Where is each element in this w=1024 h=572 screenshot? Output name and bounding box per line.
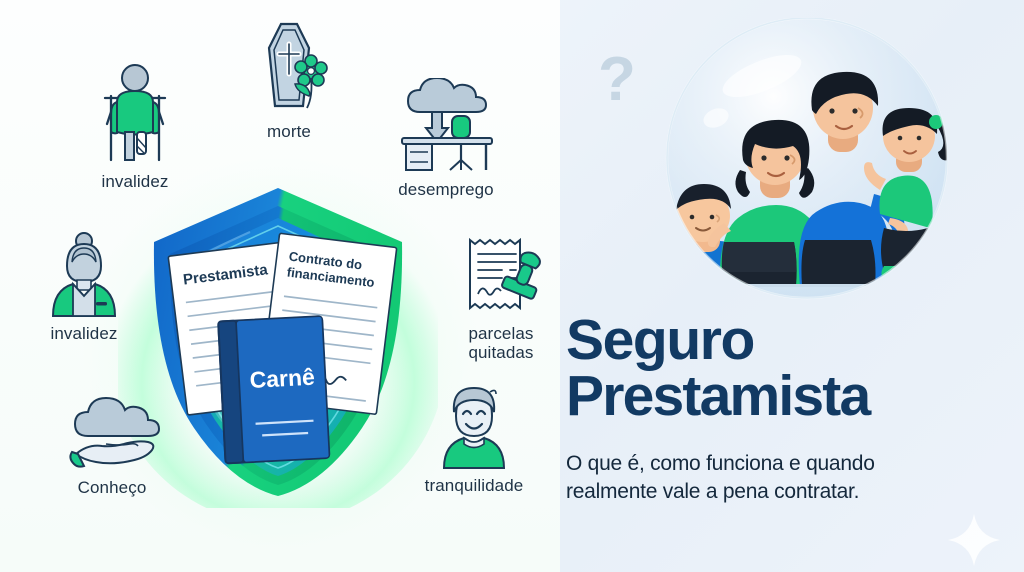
icon-invalidez-woman: invalidez	[26, 232, 142, 343]
page-title: Seguro Prestamista	[566, 312, 1006, 425]
icon-morte-coffin-label: morte	[267, 122, 311, 141]
icon-parcelas-receipt-label: parcelas quitadas	[468, 324, 533, 362]
icon-conheco-hand: Conheço	[52, 392, 172, 497]
receipt-stamp-icon	[454, 234, 548, 318]
infographic-canvas: ?	[0, 0, 1024, 572]
icon-invalidez-woman-label: invalidez	[50, 324, 117, 343]
woman-bun-icon	[39, 232, 129, 318]
icon-invalidez-crutches-label: invalidez	[101, 172, 168, 191]
page-title-line1: Seguro	[566, 308, 754, 372]
page-subtitle: O que é, como funciona e quando realment…	[566, 450, 986, 506]
document-carne-label: Carnê	[249, 364, 315, 393]
icon-tranquilidade-boy: tranquilidade	[404, 384, 544, 495]
icon-morte-coffin: morte	[234, 18, 344, 141]
cloud-desk-icon	[392, 78, 500, 174]
cloud-shape	[75, 398, 159, 436]
cloud-hand-icon	[62, 392, 162, 472]
smiling-boy-icon	[430, 384, 518, 470]
person-crutches-icon	[89, 62, 181, 166]
icon-tranquilidade-boy-label: tranquilidade	[425, 476, 524, 495]
icon-invalidez-crutches: invalidez	[70, 62, 200, 191]
coffin-flower-icon	[247, 18, 331, 116]
icon-desemprego-desk: desemprego	[382, 78, 510, 199]
page-title-line2: Prestamista	[566, 368, 1006, 424]
page-subtitle-line2: realmente vale a pena contratar.	[566, 480, 859, 503]
document-carne: Carnê	[218, 316, 329, 463]
icon-conheco-hand-label: Conheço	[78, 478, 147, 497]
page-subtitle-line1: O que é, como funciona e quando	[566, 452, 875, 475]
family-in-bubble	[612, 18, 1002, 318]
receipt-paper	[470, 240, 520, 308]
icon-desemprego-desk-label: desemprego	[398, 180, 494, 199]
icon-parcelas-receipt: parcelas quitadas	[446, 234, 556, 362]
sparkle-icon	[946, 512, 1002, 572]
